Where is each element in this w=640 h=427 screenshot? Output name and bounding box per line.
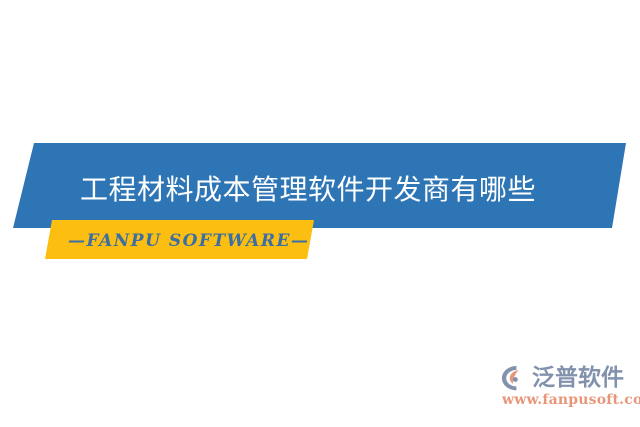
logo-url: www.fanpusoft.com (502, 392, 640, 408)
page-canvas: 工程材料成本管理软件开发商有哪些 —FANPU SOFTWARE— 泛普软件 w… (0, 0, 640, 427)
logo-wordmark: 泛普软件 (532, 364, 624, 392)
logo-row: 泛普软件 (500, 362, 624, 394)
page-title: 工程材料成本管理软件开发商有哪些 (80, 168, 560, 212)
brand-logo: 泛普软件 www.fanpusoft.com (500, 362, 636, 418)
fanpu-logo-mark-icon (500, 364, 530, 392)
page-subtitle: —FANPU SOFTWARE— (68, 228, 308, 254)
